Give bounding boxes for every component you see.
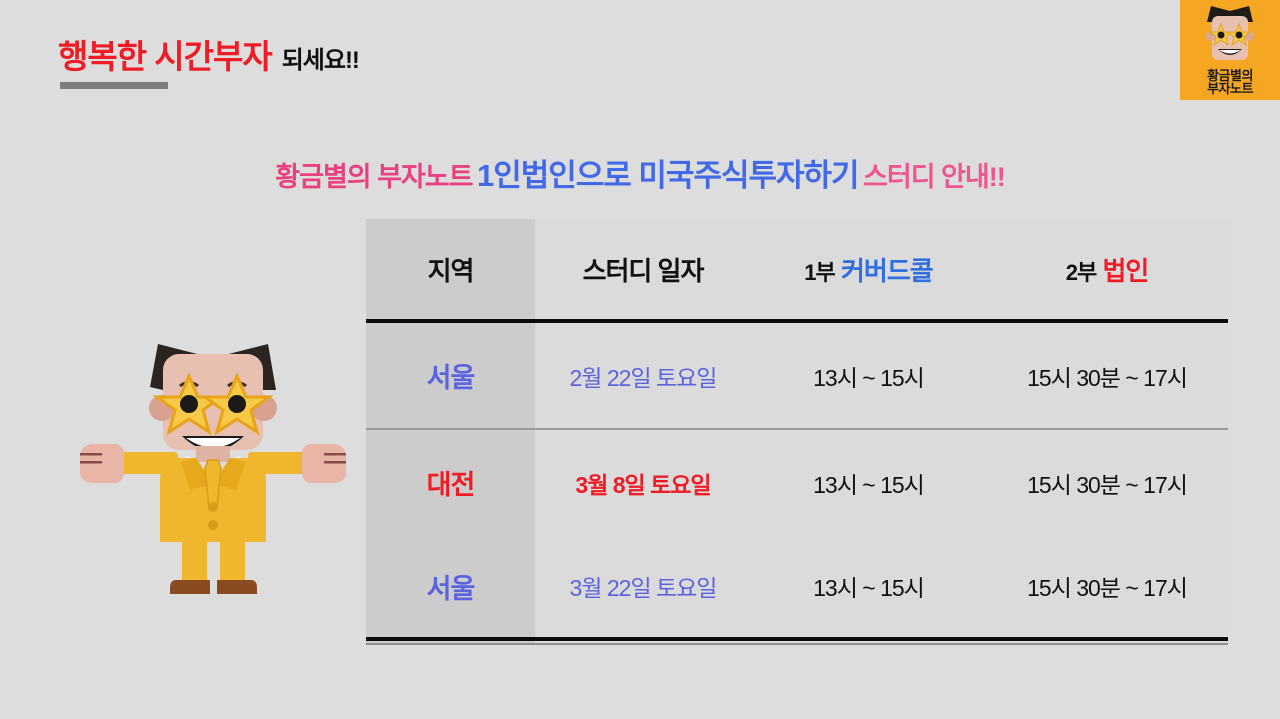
cell-part2-time: 15시 30분 ~ 17시 xyxy=(986,466,1228,500)
column-header-part2-prefix: 2부 xyxy=(1066,260,1096,285)
brand-logo: 황금별의 부자노트 xyxy=(1180,0,1280,100)
logo-character-icon xyxy=(1180,0,1280,68)
table-row: 대전 3월 8일 토요일 13시 ~ 15시 15시 30분 ~ 17시 xyxy=(366,430,1228,535)
cell-region: 대전 xyxy=(366,463,535,502)
mascot-businessman-illustration xyxy=(78,332,348,597)
column-header-date: 스터디 일자 xyxy=(535,251,751,288)
table-bottom-divider-thick xyxy=(366,637,1228,641)
table-row: 서울 3월 22일 토요일 13시 ~ 15시 15시 30분 ~ 17시 xyxy=(366,535,1228,637)
cell-part1-time: 13시 ~ 15시 xyxy=(751,466,986,500)
page-header-title: 행복한 시간부자 되세요!! xyxy=(58,30,359,78)
logo-text-line1: 황금별의 xyxy=(1180,69,1280,82)
table-bottom-divider-thin xyxy=(366,643,1228,645)
column-header-part1: 1부 커버드콜 xyxy=(751,251,986,288)
table-row: 서울 2월 22일 토요일 13시 ~ 15시 15시 30분 ~ 17시 xyxy=(366,323,1228,428)
table-header-row: 지역 스터디 일자 1부 커버드콜 2부 법인 xyxy=(366,219,1228,319)
cell-part2-time: 15시 30분 ~ 17시 xyxy=(986,569,1228,603)
cell-date: 3월 22일 토요일 xyxy=(535,569,751,603)
cell-region: 서울 xyxy=(366,356,535,395)
main-title-topic: 1인법인으로 미국주식투자하기 xyxy=(477,158,859,193)
column-header-part2: 2부 법인 xyxy=(986,251,1228,288)
cell-part2-time: 15시 30분 ~ 17시 xyxy=(986,359,1228,393)
main-title-brand: 황금별의 부자노트 xyxy=(275,162,472,192)
schedule-table: 지역 스터디 일자 1부 커버드콜 2부 법인 서울 2월 22일 토요일 13… xyxy=(366,219,1228,645)
header-underline-bar xyxy=(60,82,168,89)
cell-date: 2월 22일 토요일 xyxy=(535,359,751,393)
header-headline-red: 행복한 시간부자 xyxy=(58,30,272,78)
cell-region: 서울 xyxy=(366,567,535,606)
main-title-suffix: 스터디 안내!! xyxy=(863,162,1005,192)
column-header-region: 지역 xyxy=(366,251,535,288)
cell-part1-time: 13시 ~ 15시 xyxy=(751,569,986,603)
logo-text-line2: 부자노트 xyxy=(1180,82,1280,95)
header-headline-black: 되세요!! xyxy=(282,40,359,75)
column-header-part1-prefix: 1부 xyxy=(804,260,834,285)
main-title: 황금별의 부자노트 1인법인으로 미국주식투자하기 스터디 안내!! xyxy=(0,150,1280,195)
logo-wordmark: 황금별의 부자노트 xyxy=(1180,69,1280,96)
cell-part1-time: 13시 ~ 15시 xyxy=(751,359,986,393)
column-header-part2-accent: 법인 xyxy=(1102,256,1148,286)
column-header-part1-accent: 커버드콜 xyxy=(841,256,933,286)
cell-date: 3월 8일 토요일 xyxy=(535,466,751,500)
